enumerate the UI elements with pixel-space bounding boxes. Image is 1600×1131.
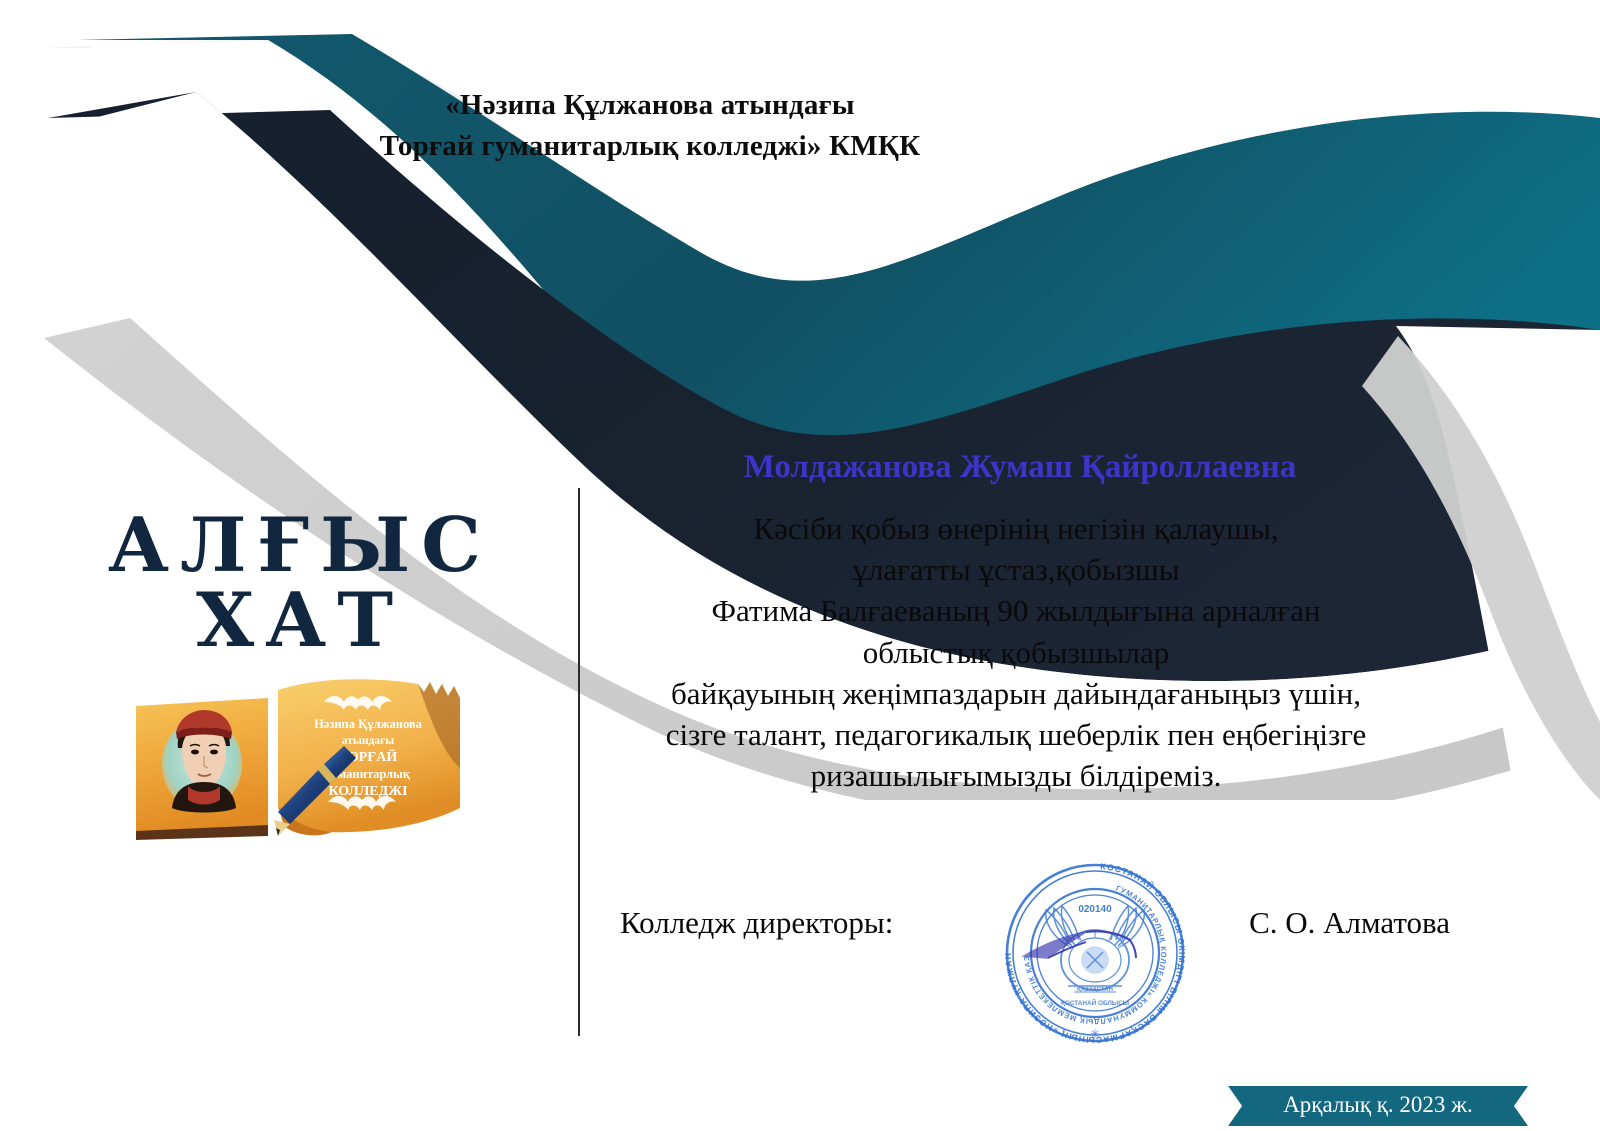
body-line-5: байқауының жеңімпаздарын дайындағаныңыз …: [586, 673, 1446, 714]
body-text: Кәсіби қобыз өнерінің негізін қалаушы, ұ…: [586, 508, 1446, 797]
institution-title-line-2: Торғай гуманитарлық колледжі» КМҚК: [300, 126, 1000, 167]
logo-text-line-1: Нәзипа Құлжанова: [314, 717, 423, 731]
page-title: АЛҒЫС ХАТ: [30, 508, 570, 658]
footer-ribbon: Арқалық қ. 2023 ж.: [1228, 1086, 1528, 1126]
certificate-page: «Нәзипа Құлжанова атындағы Торғай гумани…: [0, 0, 1600, 1131]
body-line-4: облыстық қобызшылар: [586, 632, 1446, 673]
seal-star-icon: ✳: [1090, 1027, 1100, 1041]
seal-region-label: ҚОСТАНАЙ ОБЛЫСЫ: [1061, 998, 1129, 1007]
logo-book-left-page: [136, 698, 268, 840]
body-line-1: Кәсіби қобыз өнерінің негізін қалаушы,: [586, 508, 1446, 549]
signature-label: Колледж директоры:: [620, 905, 893, 941]
body-line-7: ризашылығымызды білдіреміз.: [586, 755, 1446, 796]
footer-ribbon-text: Арқалық қ. 2023 ж.: [1228, 1086, 1528, 1126]
institution-title: «Нәзипа Құлжанова атындағы Торғай гумани…: [300, 85, 1000, 167]
vertical-divider: [578, 488, 580, 1036]
body-line-2: ұлағатты ұстаз,қобызшы: [586, 549, 1446, 590]
seal-emblem-label: ҚАЗАҚСТАН: [1077, 987, 1113, 993]
body-line-3: Фатима Балғаеваның 90 жылдығына арналған: [586, 590, 1446, 631]
college-logo: Нәзипа Құлжанова атындағы ТОРҒАЙ гуманит…: [128, 668, 468, 843]
signature-person-name: С. О. Алматова: [1249, 905, 1450, 941]
logo-text-line-5: КОЛЛЕДЖІ: [328, 784, 407, 799]
logo-text-line-2: атындағы: [342, 735, 394, 747]
signature-row: Колледж директоры: С. О. Алматова: [600, 905, 1460, 955]
body-line-6: сізге талант, педагогикалық шеберлік пен…: [586, 714, 1446, 755]
recipient-name: Молдажанова Жумаш Қайроллаевна: [600, 448, 1440, 488]
institution-title-line-1: «Нәзипа Құлжанова атындағы: [300, 85, 1000, 126]
logo-book-right-page: Нәзипа Құлжанова атындағы ТОРҒАЙ гуманит…: [278, 679, 460, 835]
